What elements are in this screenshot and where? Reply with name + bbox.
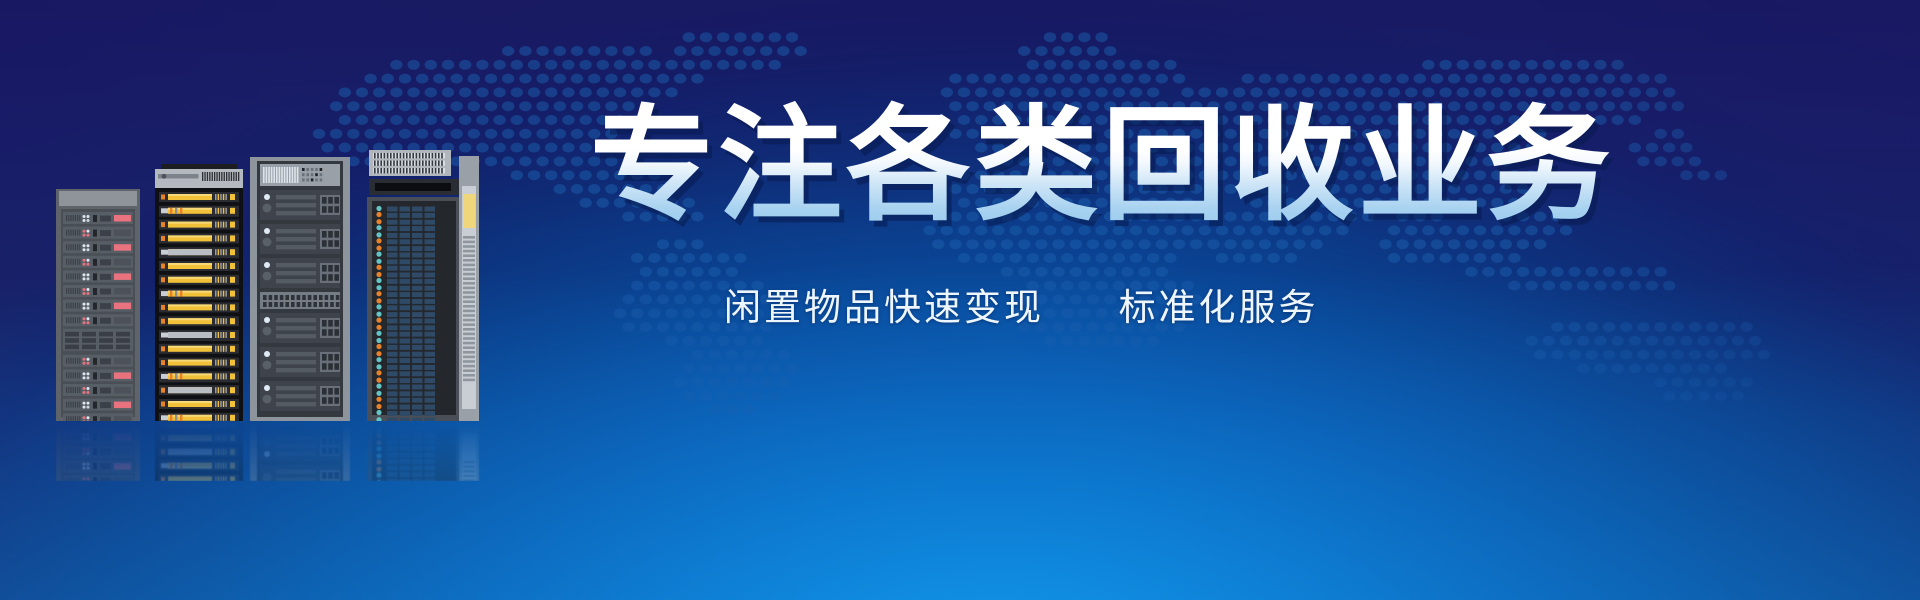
rack-black-amber: [155, 421, 243, 481]
banner-headline: 专注各类回收业务: [590, 96, 1730, 237]
banner-subtitle-left: 闲置物品快速变现: [724, 287, 1044, 328]
rack-dark-bay: [250, 157, 350, 421]
rack-gray-slim: [56, 421, 140, 481]
banner-subtitle-right: 标准化服务: [1119, 287, 1319, 328]
rack-black-amber: [155, 164, 243, 421]
rack-dark-bay: [250, 421, 350, 481]
rack-tower-dual: [367, 150, 479, 421]
banner-subtitle-row: 闲置物品快速变现 标准化服务: [590, 277, 1730, 331]
server-rack-reflection: [56, 421, 486, 481]
promo-banner: 专注各类回收业务 闲置物品快速变现 标准化服务 蓝色科技背景服务器机柜回收业务横…: [0, 0, 1920, 600]
rack-tower-dual: [367, 421, 479, 481]
server-rack-illustration: [56, 146, 486, 421]
banner-text-block: 专注各类回收业务 闲置物品快速变现 标准化服务: [590, 96, 1730, 331]
rack-gray-slim: [56, 189, 140, 421]
